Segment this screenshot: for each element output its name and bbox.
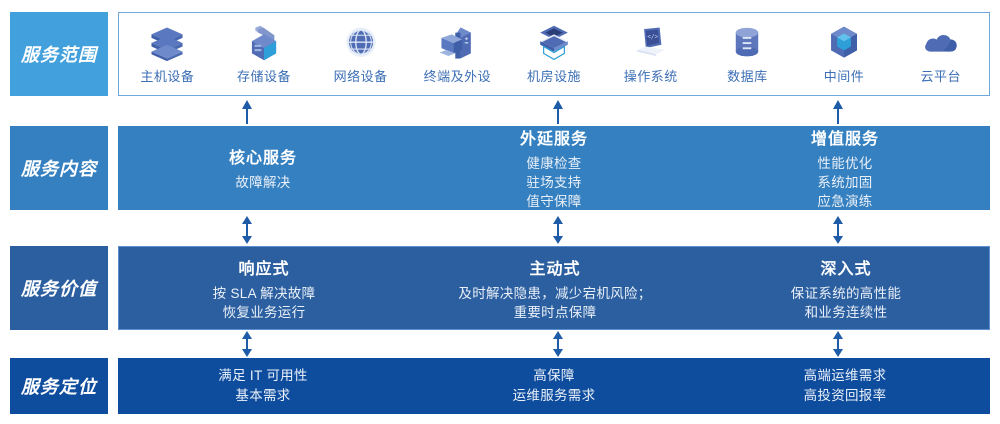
position-cell-assurance-line-2: 运维服务需求 — [513, 386, 596, 406]
value-cell-responsive-title: 响应式 — [238, 255, 289, 279]
position-cell-basic-line-2: 基本需求 — [235, 386, 290, 406]
globe-network-icon — [340, 24, 382, 62]
row-label-value-text: 服务价值 — [21, 275, 97, 301]
row-label-scope-text: 服务范围 — [21, 41, 97, 67]
scope-item-network-label: 网络设备 — [334, 66, 388, 85]
content-cell-valueadd-line-2: 系统加固 — [817, 173, 872, 192]
content-cell-core-lines: 故障解决 — [235, 173, 290, 192]
database-cylinder-icon — [726, 24, 768, 62]
connector-content-to-value-col3 — [831, 216, 845, 244]
row-label-scope: 服务范围 — [10, 12, 108, 96]
svg-text:</>: </> — [647, 33, 658, 40]
scope-item-network[interactable]: 网络设备 — [312, 13, 409, 95]
scope-item-storage-label: 存储设备 — [237, 66, 291, 85]
connector-scope-to-content-col1 — [240, 100, 254, 124]
value-cell-proactive-line-1: 及时解决隐患，减少宕机风险； — [458, 284, 651, 303]
scope-item-database-label: 数据库 — [727, 66, 768, 85]
content-cell-extended[interactable]: 外延服务 健康检查 驻场支持 值守保障 — [408, 126, 700, 210]
position-cell-basic-line-1: 满足 IT 可用性 — [218, 366, 307, 386]
row-label-value: 服务价值 — [10, 246, 108, 330]
position-cell-assurance[interactable]: 高保障 运维服务需求 — [408, 358, 700, 414]
position-cell-advanced-line-2: 高投资回报率 — [804, 386, 887, 406]
value-row-container: 响应式 按 SLA 解决故障 恢复业务运行 主动式 及时解决隐患，减少宕机风险；… — [118, 246, 990, 330]
content-cell-extended-line-2: 驻场支持 — [526, 173, 581, 192]
position-cell-advanced[interactable]: 高端运维需求 高投资回报率 — [700, 358, 990, 414]
content-cell-valueadd[interactable]: 增值服务 性能优化 系统加固 应急演练 — [700, 126, 990, 210]
position-cell-basic[interactable]: 满足 IT 可用性 基本需求 — [118, 358, 408, 414]
content-cell-valueadd-line-1: 性能优化 — [817, 154, 872, 173]
value-cell-indepth-lines: 保证系统的高性能 和业务连续性 — [791, 284, 901, 322]
scope-item-cloud-label: 云平台 — [920, 66, 961, 85]
connector-content-to-value-col1 — [240, 216, 254, 244]
scope-item-middleware[interactable]: 中间件 — [796, 13, 893, 95]
scope-item-cloud[interactable]: 云平台 — [892, 13, 989, 95]
scope-item-os-label: 操作系统 — [624, 66, 678, 85]
connector-content-to-value-col2 — [551, 216, 565, 244]
value-cell-proactive[interactable]: 主动式 及时解决隐患，减少宕机风险； 重要时点保障 — [409, 247, 701, 329]
content-cell-core-title: 核心服务 — [229, 144, 297, 168]
connector-value-to-position-col3 — [831, 331, 845, 357]
value-cell-responsive-lines: 按 SLA 解决故障 恢复业务运行 — [213, 284, 316, 322]
value-cell-indepth-line-1: 保证系统的高性能 — [791, 284, 901, 303]
value-cell-proactive-line-2: 重要时点保障 — [514, 303, 597, 322]
scope-item-host[interactable]: 主机设备 — [119, 13, 216, 95]
laptop-os-icon: </> — [630, 24, 672, 62]
content-cell-core-line-1: 故障解决 — [235, 173, 290, 192]
scope-item-storage[interactable]: 存储设备 — [216, 13, 313, 95]
value-cell-proactive-lines: 及时解决隐患，减少宕机风险； 重要时点保障 — [458, 284, 651, 322]
service-system-diagram: 服务范围 主机设备 — [0, 0, 1000, 424]
scope-item-datacenter[interactable]: 机房设施 — [506, 13, 603, 95]
connector-scope-to-content-col2 — [551, 100, 565, 124]
content-row-container: 核心服务 故障解决 外延服务 健康检查 驻场支持 值守保障 增值服务 性能优化 … — [118, 126, 990, 210]
scope-item-os[interactable]: </> 操作系统 — [602, 13, 699, 95]
connector-value-to-position-col1 — [240, 331, 254, 357]
scope-item-terminal[interactable]: 终端及外设 — [409, 13, 506, 95]
desktop-terminal-icon — [436, 24, 478, 62]
position-cell-advanced-lines: 高端运维需求 高投资回报率 — [804, 366, 887, 406]
scope-item-datacenter-label: 机房设施 — [527, 66, 581, 85]
storage-array-icon — [243, 24, 285, 62]
value-cell-responsive-line-2: 恢复业务运行 — [223, 303, 306, 322]
scope-item-database[interactable]: 数据库 — [699, 13, 796, 95]
position-cell-advanced-line-1: 高端运维需求 — [804, 366, 887, 386]
connector-value-to-position-col2 — [551, 331, 565, 357]
datacenter-facility-icon — [533, 24, 575, 62]
value-cell-indepth-title: 深入式 — [820, 255, 871, 279]
middleware-cube-icon — [823, 24, 865, 62]
content-cell-extended-line-3: 值守保障 — [526, 192, 581, 211]
value-cell-responsive-line-1: 按 SLA 解决故障 — [213, 284, 316, 303]
content-cell-core[interactable]: 核心服务 故障解决 — [118, 126, 408, 210]
value-cell-responsive[interactable]: 响应式 按 SLA 解决故障 恢复业务运行 — [119, 247, 409, 329]
value-cell-indepth-line-2: 和业务连续性 — [805, 303, 888, 322]
connector-scope-to-content-col3 — [831, 100, 845, 124]
cloud-platform-icon — [920, 24, 962, 62]
content-cell-extended-title: 外延服务 — [520, 125, 588, 149]
content-cell-valueadd-title: 增值服务 — [811, 125, 879, 149]
scope-item-middleware-label: 中间件 — [824, 66, 865, 85]
row-label-position: 服务定位 — [10, 358, 108, 414]
position-cell-basic-lines: 满足 IT 可用性 基本需求 — [218, 366, 307, 406]
position-cell-assurance-lines: 高保障 运维服务需求 — [513, 366, 596, 406]
row-label-content-text: 服务内容 — [21, 155, 97, 181]
content-cell-valueadd-line-3: 应急演练 — [817, 192, 872, 211]
value-cell-indepth[interactable]: 深入式 保证系统的高性能 和业务连续性 — [701, 247, 991, 329]
server-stack-icon — [146, 24, 188, 62]
position-cell-assurance-line-1: 高保障 — [533, 366, 574, 386]
position-row-container: 满足 IT 可用性 基本需求 高保障 运维服务需求 高端运维需求 高投资回报率 — [118, 358, 990, 414]
content-cell-extended-lines: 健康检查 驻场支持 值守保障 — [526, 154, 581, 211]
value-cell-proactive-title: 主动式 — [529, 255, 580, 279]
scope-item-terminal-label: 终端及外设 — [424, 66, 492, 85]
scope-items-container: 主机设备 存储设备 — [118, 12, 990, 96]
content-cell-valueadd-lines: 性能优化 系统加固 应急演练 — [817, 154, 872, 211]
content-cell-extended-line-1: 健康检查 — [526, 154, 581, 173]
row-label-position-text: 服务定位 — [21, 373, 97, 399]
row-label-content: 服务内容 — [10, 126, 108, 210]
scope-item-host-label: 主机设备 — [140, 66, 194, 85]
